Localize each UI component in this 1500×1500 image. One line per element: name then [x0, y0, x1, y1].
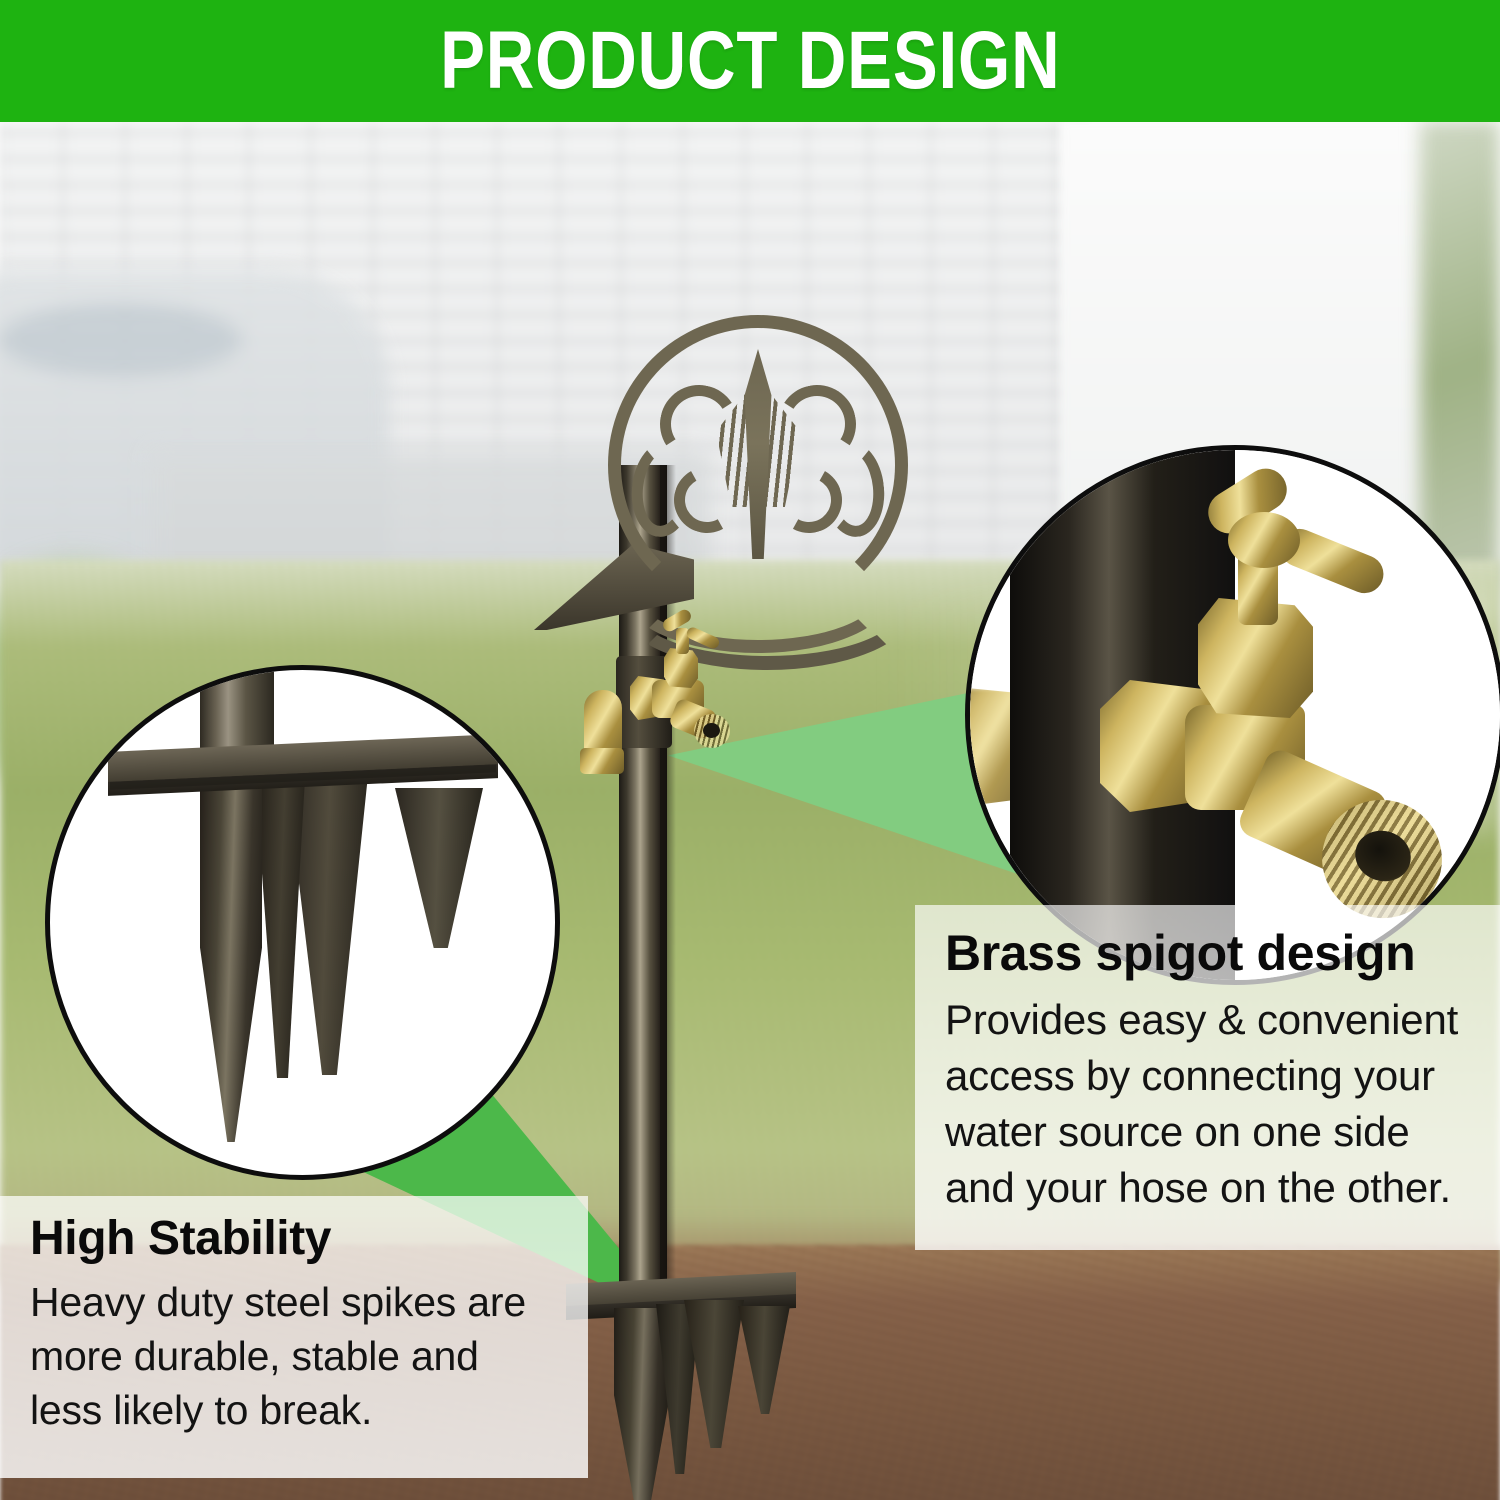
spike-detail-spike	[200, 782, 262, 1142]
spike-detail-spike	[395, 788, 483, 948]
callout-body-stability: Heavy duty steel spikes are more durable…	[30, 1275, 562, 1437]
spigot-detail-knob	[1228, 512, 1300, 568]
callout-body-spigot: Provides easy & convenient access by con…	[945, 992, 1486, 1215]
page-title: PRODUCT DESIGN	[440, 14, 1060, 108]
header-banner: PRODUCT DESIGN	[0, 0, 1500, 122]
spike-detail-spike	[255, 778, 305, 1078]
callout-title-spigot: Brass spigot design	[945, 927, 1486, 980]
callout-title-stability: High Stability	[30, 1214, 562, 1265]
infographic-canvas: PRODUCT DESIGN	[0, 0, 1500, 1500]
detail-circle-spigot	[965, 445, 1500, 985]
callout-panel-stability: High Stability Heavy duty steel spikes a…	[0, 1196, 588, 1478]
detail-circle-spikes	[45, 665, 560, 1180]
callout-panel-spigot: Brass spigot design Provides easy & conv…	[915, 905, 1500, 1250]
